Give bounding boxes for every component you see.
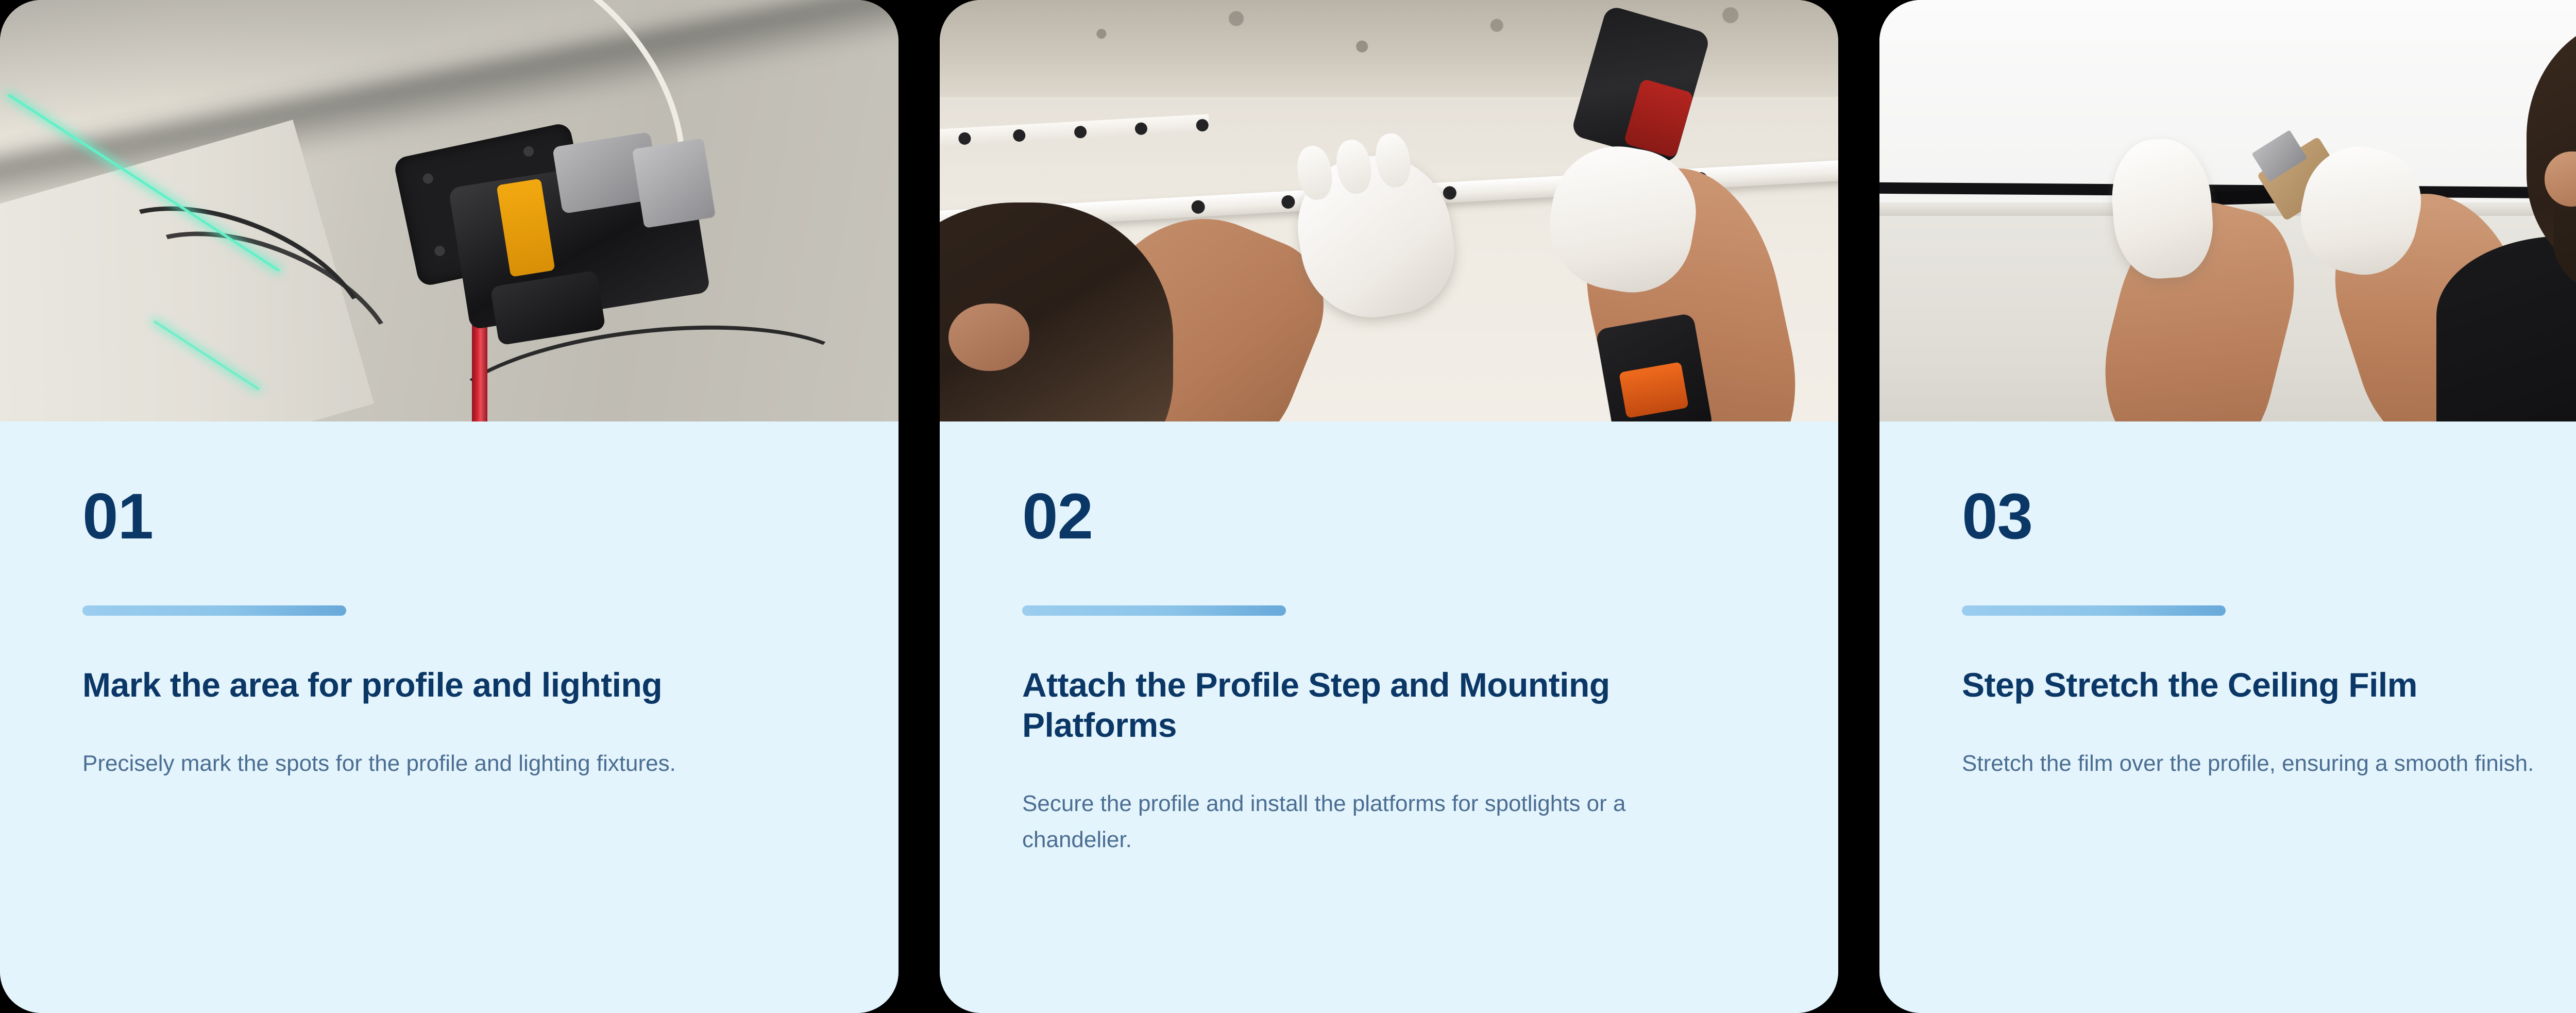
step-photo-laser-level bbox=[0, 0, 899, 421]
step-divider-bar bbox=[82, 605, 346, 616]
step-description: Secure the profile and install the platf… bbox=[1022, 786, 1707, 858]
stretch-ceiling-surface bbox=[1879, 0, 2576, 211]
step-title: Mark the area for profile and lighting bbox=[82, 665, 752, 705]
step-description: Precisely mark the spots for the profile… bbox=[82, 746, 768, 782]
step-description: Stretch the film over the profile, ensur… bbox=[1962, 746, 2576, 782]
step-card-body: 03 Step Stretch the Ceiling Film Stretch… bbox=[1879, 421, 2576, 1013]
step-photo-stretch-film bbox=[1879, 0, 2576, 421]
step-title: Attach the Profile Step and Mounting Pla… bbox=[1022, 665, 1692, 746]
step-card-body: 02 Attach the Profile Step and Mounting … bbox=[940, 421, 1838, 1013]
step-number: 03 bbox=[1962, 484, 2576, 549]
step-divider-bar bbox=[1962, 605, 2226, 616]
step-title: Step Stretch the Ceiling Film bbox=[1962, 665, 2576, 705]
step-card-body: 01 Mark the area for profile and lightin… bbox=[0, 421, 899, 1013]
upper-screw-row bbox=[940, 114, 1245, 148]
step-card-03[interactable]: 03 Step Stretch the Ceiling Film Stretch… bbox=[1879, 0, 2576, 1013]
step-card-01[interactable]: 01 Mark the area for profile and lightin… bbox=[0, 0, 899, 1013]
steps-card-row: 01 Mark the area for profile and lightin… bbox=[0, 0, 2576, 1013]
step-divider-bar bbox=[1022, 605, 1286, 616]
laser-side-bracket bbox=[632, 138, 716, 228]
step-photo-profile-install bbox=[940, 0, 1838, 421]
worker-ear bbox=[948, 303, 1029, 371]
step-number: 02 bbox=[1022, 484, 1756, 549]
step-card-02[interactable]: 02 Attach the Profile Step and Mounting … bbox=[940, 0, 1838, 1013]
step-number: 01 bbox=[82, 484, 816, 549]
